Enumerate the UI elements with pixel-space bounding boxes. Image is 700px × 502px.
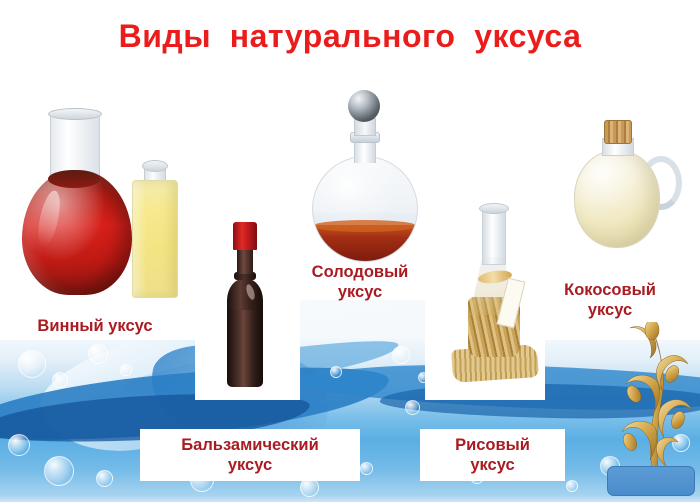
red-bottle-cap bbox=[233, 222, 257, 250]
caption-malt: Солодовый уксус bbox=[285, 262, 435, 302]
bottle-mouth bbox=[142, 160, 168, 172]
malt-vinegar-decanter-image bbox=[312, 90, 416, 260]
caption-rice: Рисовый уксус bbox=[420, 429, 565, 481]
cork-stopper bbox=[604, 120, 632, 144]
decanter-neck bbox=[354, 140, 376, 163]
decanter-rim bbox=[48, 108, 102, 120]
bottle-mouth bbox=[479, 203, 509, 214]
coconut-vinegar-jug-image bbox=[570, 120, 666, 248]
gold-floral-ornament-icon bbox=[608, 322, 696, 472]
water-bubble bbox=[330, 366, 342, 378]
caption-coconut: Кокосовый уксус bbox=[530, 280, 690, 320]
caption-balsamic: Бальзамический уксус bbox=[140, 429, 360, 481]
amber-liquid bbox=[313, 225, 417, 261]
red-wine-vinegar-decanter-image bbox=[22, 110, 132, 295]
water-bubble bbox=[44, 456, 74, 486]
bottle-body bbox=[227, 302, 263, 387]
yellow-vinegar-bottle-image bbox=[132, 160, 176, 296]
water-bubble bbox=[52, 372, 68, 388]
water-bubble bbox=[96, 470, 113, 487]
slide-canvas: Виды натурального уксуса bbox=[0, 0, 700, 502]
water-bubble bbox=[392, 346, 410, 364]
water-bubble bbox=[405, 400, 420, 415]
decanter-sphere bbox=[312, 156, 418, 262]
jug-body bbox=[574, 150, 660, 248]
water-bubble bbox=[360, 462, 373, 475]
liquid-surface bbox=[48, 170, 100, 188]
bottle-body bbox=[132, 180, 178, 298]
water-bubble bbox=[18, 350, 46, 378]
rice-vinegar-bottle-image bbox=[452, 205, 538, 380]
ball-stopper bbox=[348, 90, 380, 122]
bottle-shoulder bbox=[227, 278, 263, 310]
water-bubble bbox=[88, 344, 108, 364]
bottle-neck bbox=[237, 248, 253, 274]
water-bubble bbox=[120, 364, 132, 376]
bottle-neck bbox=[482, 205, 506, 265]
water-bubble bbox=[566, 480, 578, 492]
water-bubble bbox=[8, 434, 30, 456]
caption-wine: Винный уксус bbox=[0, 316, 190, 336]
balsamic-vinegar-bottle-image bbox=[225, 222, 265, 387]
page-title: Виды натурального уксуса bbox=[0, 18, 700, 55]
blue-action-button[interactable] bbox=[607, 466, 695, 496]
